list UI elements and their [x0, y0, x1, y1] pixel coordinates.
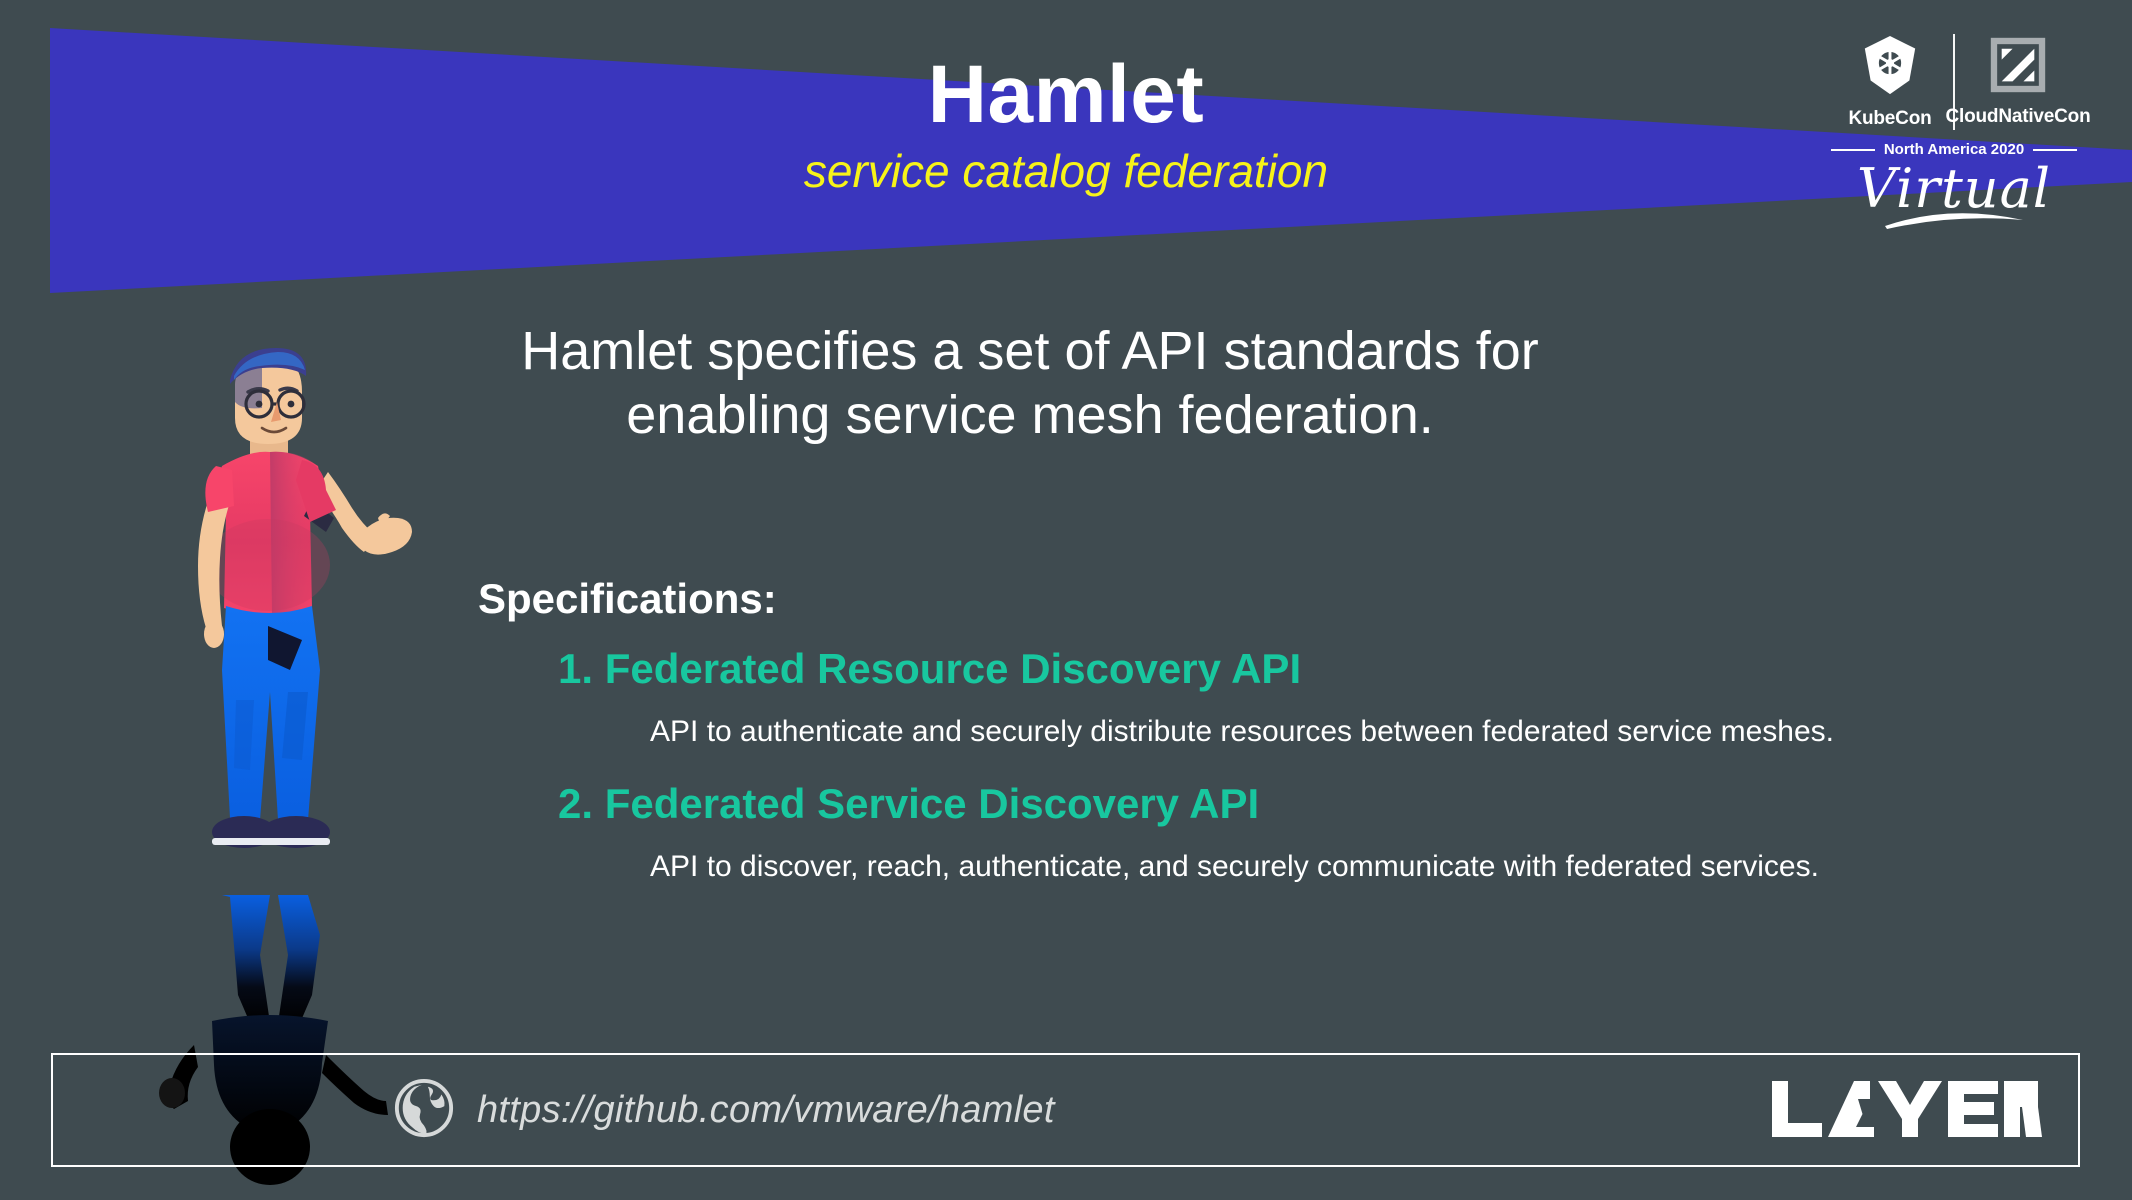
- rule-left: [1831, 149, 1875, 151]
- cloudnativecon-mark: CloudNativeCon: [1963, 36, 2073, 128]
- conference-region: North America 2020: [1828, 141, 2080, 158]
- kubecon-cloudnativecon-logo: KubeCon CloudNativeCon North Amer: [1828, 34, 2080, 237]
- spec-title: Federated Resource Discovery API: [605, 645, 1301, 692]
- conference-mode-label: Virtual: [1828, 162, 2080, 216]
- specifications-heading: Specifications:: [478, 575, 2078, 623]
- spec-number: 2.: [558, 780, 593, 827]
- spec-item: 1. Federated Resource Discovery API API …: [478, 645, 2078, 750]
- spec-title-row: 1. Federated Resource Discovery API: [478, 645, 2078, 692]
- specifications-section: Specifications: 1. Federated Resource Di…: [478, 575, 2078, 915]
- rule-right: [2033, 149, 2077, 151]
- spec-number: 1.: [558, 645, 593, 692]
- project-link[interactable]: https://github.com/vmware/hamlet: [393, 1077, 1055, 1144]
- spec-title-row: 2. Federated Service Discovery API: [478, 780, 2078, 827]
- globe-icon: [393, 1077, 455, 1144]
- kubecon-mark: KubeCon: [1835, 34, 1945, 130]
- cloudnativecon-label: CloudNativeCon: [1946, 106, 2091, 128]
- logo-marks: KubeCon CloudNativeCon: [1828, 34, 2080, 130]
- page-title: Hamlet: [0, 52, 2132, 138]
- logo-divider: [1953, 34, 1955, 130]
- spec-description: API to authenticate and securely distrib…: [478, 714, 2078, 750]
- character-illustration: [150, 340, 450, 900]
- presentation-slide: Hamlet service catalog federation: [0, 0, 2132, 1200]
- project-url[interactable]: https://github.com/vmware/hamlet: [477, 1089, 1055, 1132]
- kubernetes-helm-icon: [1859, 34, 1921, 101]
- spec-description: API to discover, reach, authenticate, an…: [478, 849, 2078, 885]
- title-block: Hamlet service catalog federation: [0, 52, 2132, 197]
- lede-paragraph: Hamlet specifies a set of API standards …: [430, 320, 1630, 447]
- footer-bar: https://github.com/vmware/hamlet: [51, 1053, 2080, 1167]
- cncf-square-icon: [1989, 36, 2047, 99]
- layer5-logo: [1770, 1079, 2042, 1141]
- conference-region-label: North America 2020: [1884, 141, 2024, 158]
- page-subtitle: service catalog federation: [0, 146, 2132, 197]
- spec-title: Federated Service Discovery API: [605, 780, 1259, 827]
- kubecon-label: KubeCon: [1848, 108, 1931, 130]
- spec-item: 2. Federated Service Discovery API API t…: [478, 780, 2078, 885]
